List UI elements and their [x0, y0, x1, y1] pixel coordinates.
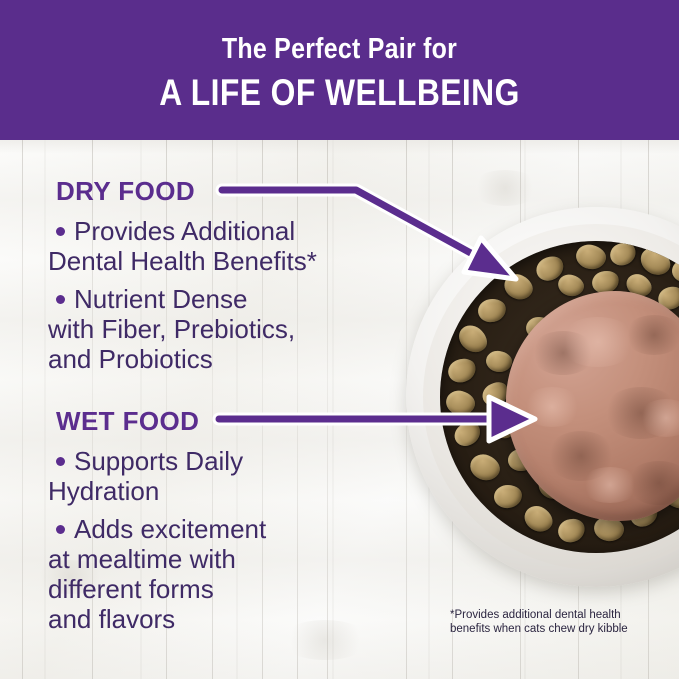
- dry-food-bullet-1: Provides Additional Dental Health Benefi…: [48, 216, 378, 276]
- header-title-line-1: The Perfect Pair for: [48, 33, 632, 66]
- bullet-dot-icon: [56, 457, 65, 466]
- pet-food-bowl-photo: [406, 207, 679, 587]
- pate-highlight: [522, 387, 582, 427]
- pate-highlight: [558, 317, 638, 367]
- kibble-piece: [493, 484, 523, 510]
- bullet-text-line: Hydration: [48, 476, 159, 506]
- bullet-text-line: at mealtime with: [48, 544, 236, 574]
- wet-food-bullet-2: Adds excitement at mealtime with differe…: [48, 514, 378, 634]
- header-title-line-2: A LIFE OF WELLBEING: [48, 72, 632, 113]
- kibble-piece: [555, 515, 588, 545]
- footnote-line-1: *Provides additional dental health: [450, 609, 621, 621]
- bullet-text-line: Provides Additional: [74, 216, 295, 246]
- wet-food-heading: WET FOOD: [56, 406, 199, 437]
- bullet-text-line: Adds excitement: [74, 514, 266, 544]
- dry-food-heading: DRY FOOD: [56, 176, 195, 207]
- dry-food-bullet-2: Nutrient Dense with Fiber, Prebiotics, a…: [48, 284, 378, 374]
- pate-highlight: [580, 467, 640, 503]
- kibble-piece: [607, 241, 639, 269]
- bullet-text-line: different forms: [48, 574, 214, 604]
- kibble-piece: [454, 320, 492, 358]
- bullet-text-line: and flavors: [48, 604, 175, 634]
- footnote-disclaimer: *Provides additional dental health benef…: [450, 608, 670, 636]
- bullet-dot-icon: [56, 227, 65, 236]
- bullet-text-line: Supports Daily: [74, 446, 243, 476]
- header-banner: The Perfect Pair for A LIFE OF WELLBEING: [0, 0, 679, 140]
- bullet-dot-icon: [56, 295, 65, 304]
- bullet-text-line: with Fiber, Prebiotics,: [48, 314, 295, 344]
- kibble-piece: [500, 270, 537, 304]
- wet-food-bullet-1: Supports Daily Hydration: [48, 446, 378, 506]
- bullet-dot-icon: [56, 525, 65, 534]
- footnote-line-2: benefits when cats chew dry kibble: [450, 623, 628, 635]
- kibble-piece: [476, 297, 508, 325]
- bullet-text-line: and Probiotics: [48, 344, 213, 374]
- bullet-text-line: Dental Health Benefits*: [48, 246, 317, 276]
- kibble-piece: [444, 388, 478, 418]
- kibble-piece: [445, 355, 479, 386]
- kibble-piece: [485, 349, 514, 373]
- plank-seam: [22, 140, 23, 679]
- wood-smudge: [470, 170, 540, 206]
- kibble-piece: [466, 450, 503, 484]
- kibble-piece: [574, 242, 608, 272]
- bullet-text-line: Nutrient Dense: [74, 284, 247, 314]
- infographic-canvas: The Perfect Pair for A LIFE OF WELLBEING: [0, 0, 679, 679]
- kibble-piece: [520, 501, 557, 537]
- kibble-piece: [450, 417, 485, 450]
